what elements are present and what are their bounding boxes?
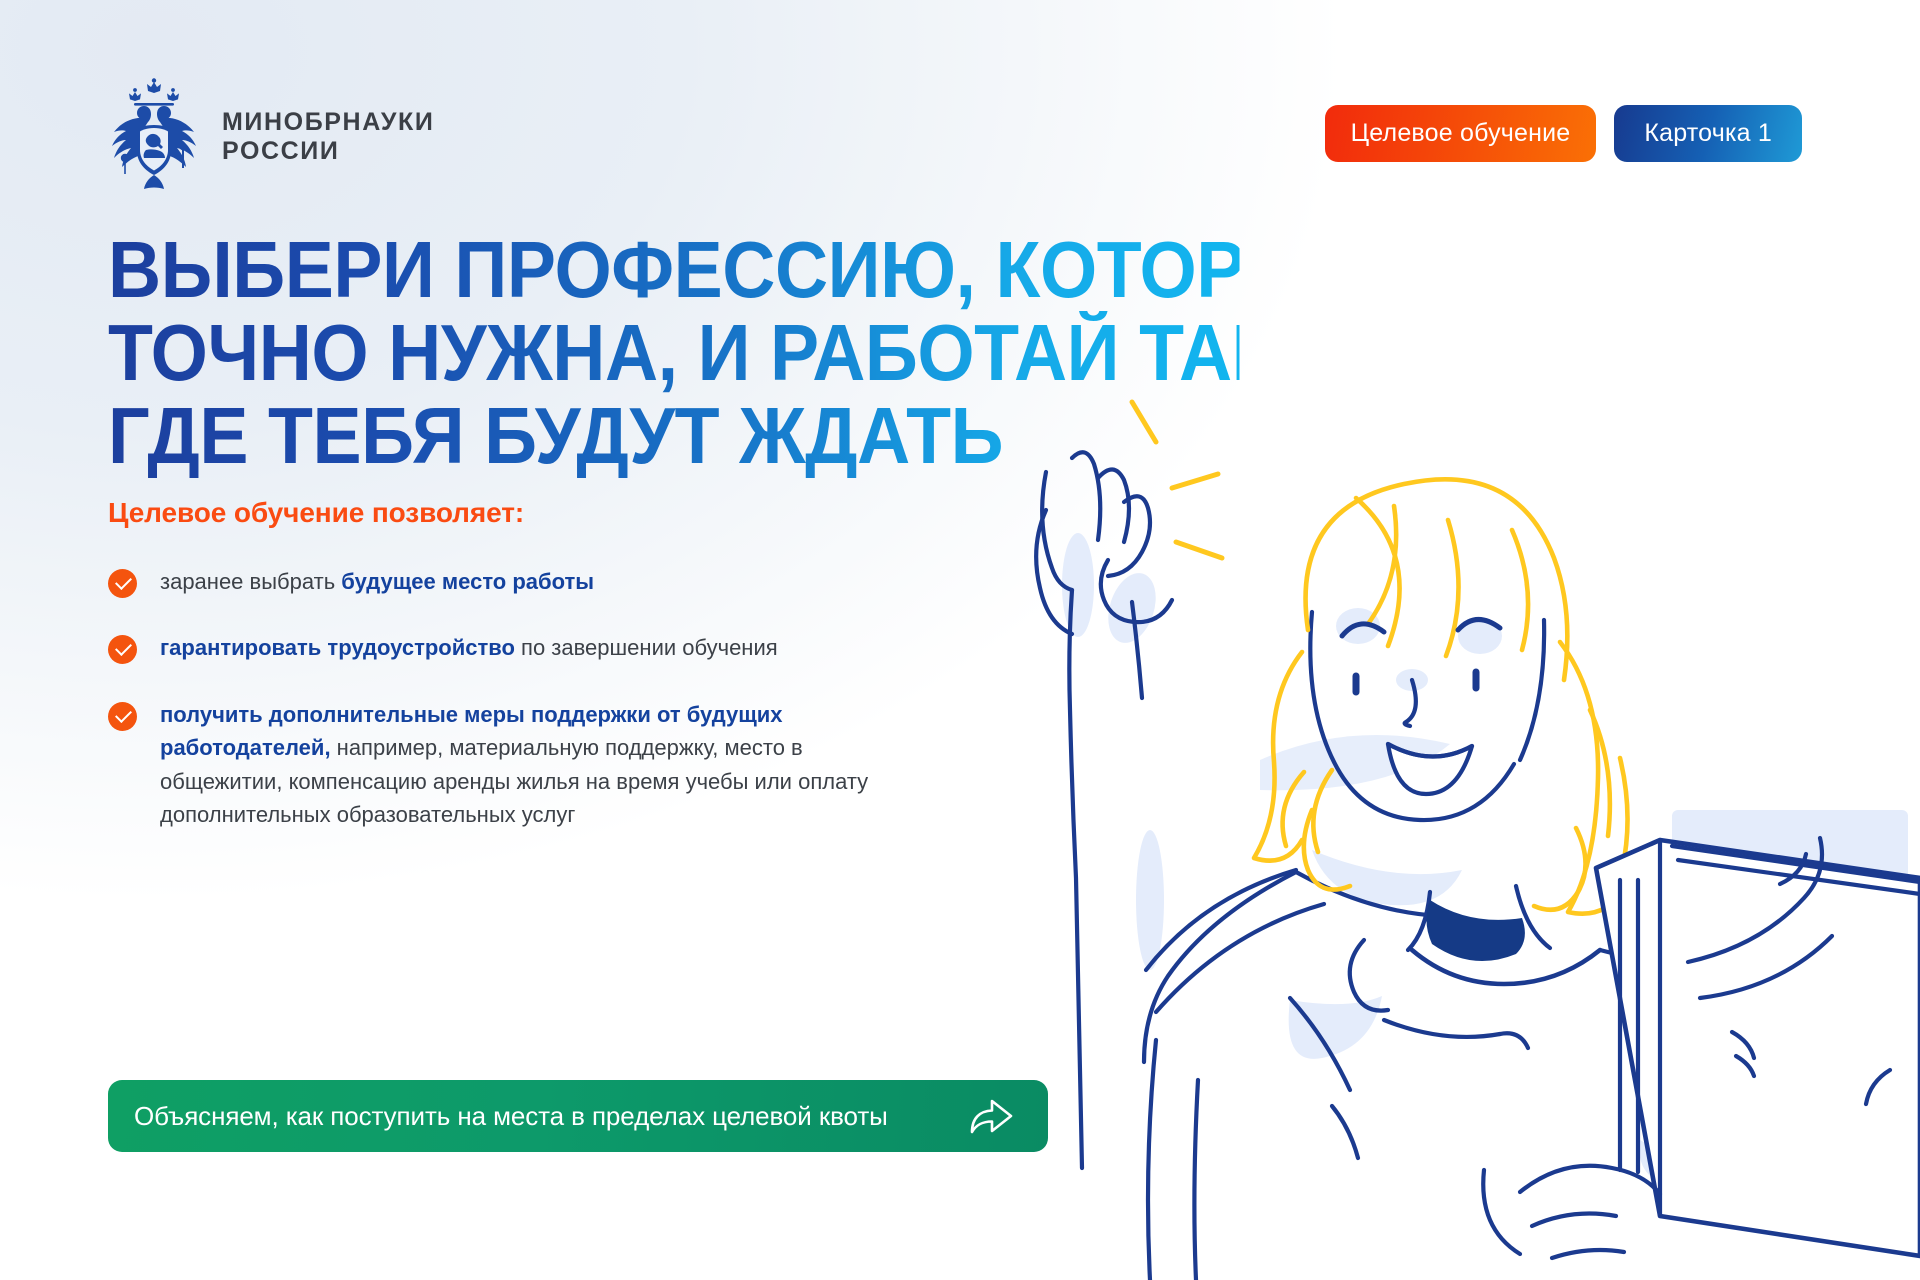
- russian-coat-of-arms-icon: [108, 78, 200, 196]
- headline-line-2: ТОЧНО НУЖНА, И РАБОТАЙ ТАМ,: [108, 311, 1240, 394]
- brand-line-2: РОССИИ: [222, 137, 434, 167]
- badge-card-number[interactable]: Карточка 1: [1614, 105, 1802, 162]
- list-item-text: гарантировать трудоустройство по заверше…: [160, 631, 778, 664]
- check-circle-icon: [108, 569, 137, 598]
- brand-line-1: МИНОБРНАУКИ: [222, 108, 434, 138]
- benefits-list: заранее выбрать будущее место работы гар…: [108, 565, 908, 865]
- list-item-text: заранее выбрать будущее место работы: [160, 565, 594, 598]
- page-header: МИНОБРНАУКИ РОССИИ Целевое обучение Карт…: [0, 0, 1920, 230]
- brand-text: МИНОБРНАУКИ РОССИИ: [222, 108, 434, 167]
- list-item-text: получить дополнительные меры поддержки о…: [160, 698, 908, 832]
- ministry-brand: МИНОБРНАУКИ РОССИИ: [108, 78, 434, 196]
- list-item: гарантировать трудоустройство по заверше…: [108, 631, 908, 664]
- share-arrow-icon: [968, 1096, 1014, 1136]
- list-item: заранее выбрать будущее место работы: [108, 565, 908, 598]
- badge-topic[interactable]: Целевое обучение: [1325, 105, 1597, 162]
- subheading: Целевое обучение позволяет:: [108, 497, 524, 529]
- woman-holding-box-illustration: [960, 380, 1920, 1280]
- page-headline: ВЫБЕРИ ПРОФЕССИЮ, КОТОРАЯ ТОЧНО НУЖНА, И…: [108, 228, 1240, 478]
- check-circle-icon: [108, 635, 137, 664]
- cta-button[interactable]: Объясняем, как поступить на места в пред…: [108, 1080, 1048, 1152]
- check-circle-icon: [108, 702, 137, 731]
- header-badges: Целевое обучение Карточка 1: [1325, 105, 1802, 162]
- headline-line-3: ГДЕ ТЕБЯ БУДУТ ЖДАТЬ: [108, 394, 1240, 477]
- list-item: получить дополнительные меры поддержки о…: [108, 698, 908, 832]
- headline-line-1: ВЫБЕРИ ПРОФЕССИЮ, КОТОРАЯ: [108, 228, 1240, 311]
- cta-label: Объясняем, как поступить на места в пред…: [134, 1101, 888, 1132]
